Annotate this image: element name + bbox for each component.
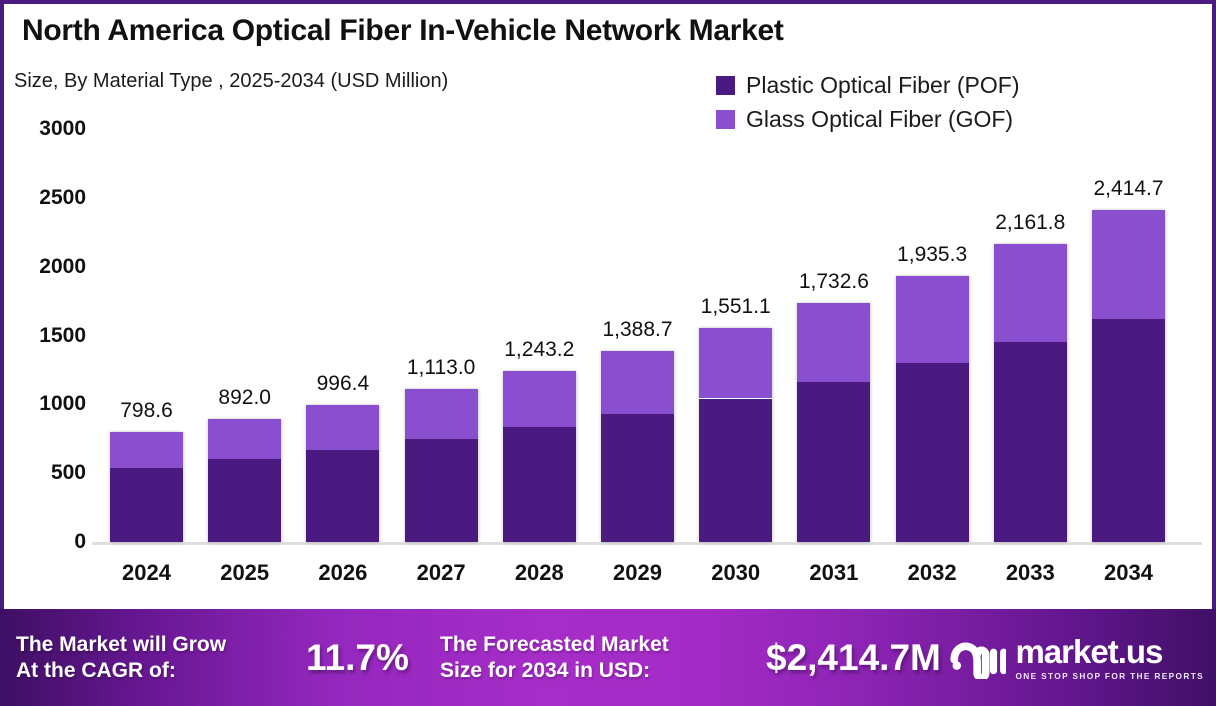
logo-tagline: ONE STOP SHOP FOR THE REPORTS (1015, 671, 1204, 681)
y-axis-tick: 1500 (0, 324, 86, 348)
y-axis-tick: 2000 (0, 255, 86, 279)
bar-value-label: 2,161.8 (995, 211, 1065, 235)
x-axis-tick-2028: 2028 (515, 560, 564, 586)
bar-2029[interactable] (601, 351, 674, 542)
y-axis-tick: 3000 (0, 117, 86, 141)
bar-segment-gof[interactable] (306, 405, 379, 450)
forecast-caption: The Forecasted Market Size for 2034 in U… (440, 632, 669, 683)
bar-value-label: 1,732.6 (799, 270, 869, 294)
bar-segment-gof[interactable] (208, 419, 281, 459)
bar-segment-pof[interactable] (797, 382, 870, 542)
bar-2031[interactable] (797, 303, 870, 542)
y-axis-tick: 0 (0, 530, 86, 554)
bar-2026[interactable] (306, 405, 379, 542)
x-axis-tick-2029: 2029 (613, 560, 662, 586)
bar-segment-gof[interactable] (797, 303, 870, 381)
x-axis-tick-2034: 2034 (1104, 560, 1153, 586)
bar-value-label: 1,113.0 (407, 356, 476, 380)
x-axis-line (92, 542, 1202, 545)
market-us-logo-icon (950, 637, 1006, 679)
bar-segment-pof[interactable] (994, 342, 1067, 542)
bar-value-label: 798.6 (120, 399, 173, 423)
x-axis-tick-2026: 2026 (318, 560, 367, 586)
forecast-value: $2,414.7M (766, 637, 941, 679)
x-axis-tick-2025: 2025 (220, 560, 269, 586)
y-axis-tick: 2500 (0, 186, 86, 210)
y-axis-tick: 500 (0, 461, 86, 485)
bar-segment-gof[interactable] (1092, 210, 1165, 319)
bar-2028[interactable] (503, 371, 576, 542)
bar-segment-gof[interactable] (994, 244, 1067, 342)
bar-2027[interactable] (405, 389, 478, 542)
market-us-logo[interactable]: market.us ONE STOP SHOP FOR THE REPORTS (950, 609, 1204, 706)
bar-segment-pof[interactable] (306, 450, 379, 542)
x-axis-tick-2024: 2024 (122, 560, 171, 586)
x-axis-tick-2030: 2030 (711, 560, 760, 586)
bar-segment-gof[interactable] (110, 432, 183, 468)
bar-value-label: 996.4 (317, 372, 370, 396)
bar-2032[interactable] (896, 276, 969, 542)
summary-banner: The Market will Grow At the CAGR of: 11.… (0, 609, 1216, 706)
bar-value-label: 892.0 (218, 386, 271, 410)
bar-value-label: 1,935.3 (897, 243, 967, 267)
bar-segment-gof[interactable] (699, 328, 772, 398)
x-axis-tick-2032: 2032 (908, 560, 957, 586)
bar-segment-pof[interactable] (208, 459, 281, 542)
x-axis-tick-2031: 2031 (809, 560, 858, 586)
bar-2024[interactable] (110, 432, 183, 542)
logo-name: market.us (1015, 635, 1204, 668)
plot-area: 050010001500200025003000798.62024892.020… (0, 0, 1216, 609)
bar-value-label: 1,243.2 (504, 338, 574, 362)
bar-2033[interactable] (994, 244, 1067, 542)
bar-segment-gof[interactable] (601, 351, 674, 414)
bar-segment-pof[interactable] (1092, 319, 1165, 542)
bar-segment-pof[interactable] (896, 363, 969, 542)
bar-value-label: 1,551.1 (701, 295, 771, 319)
bar-segment-gof[interactable] (503, 371, 576, 427)
bar-2034[interactable] (1092, 210, 1165, 542)
x-axis-tick-2033: 2033 (1006, 560, 1055, 586)
cagr-value: 11.7% (306, 637, 409, 679)
bar-segment-pof[interactable] (110, 468, 183, 542)
bar-segment-pof[interactable] (699, 399, 772, 543)
bar-value-label: 1,388.7 (602, 318, 672, 342)
bar-segment-pof[interactable] (601, 414, 674, 542)
bar-value-label: 2,414.7 (1093, 177, 1163, 201)
bar-segment-pof[interactable] (503, 427, 576, 542)
bar-segment-pof[interactable] (405, 439, 478, 542)
bar-segment-gof[interactable] (405, 389, 478, 439)
bar-2030[interactable] (699, 328, 772, 542)
x-axis-tick-2027: 2027 (417, 560, 466, 586)
bar-2025[interactable] (208, 419, 281, 542)
chart-infographic: North America Optical Fiber In-Vehicle N… (0, 0, 1216, 706)
y-axis-tick: 1000 (0, 392, 86, 416)
cagr-caption: The Market will Grow At the CAGR of: (16, 632, 226, 683)
bar-segment-gof[interactable] (896, 276, 969, 363)
